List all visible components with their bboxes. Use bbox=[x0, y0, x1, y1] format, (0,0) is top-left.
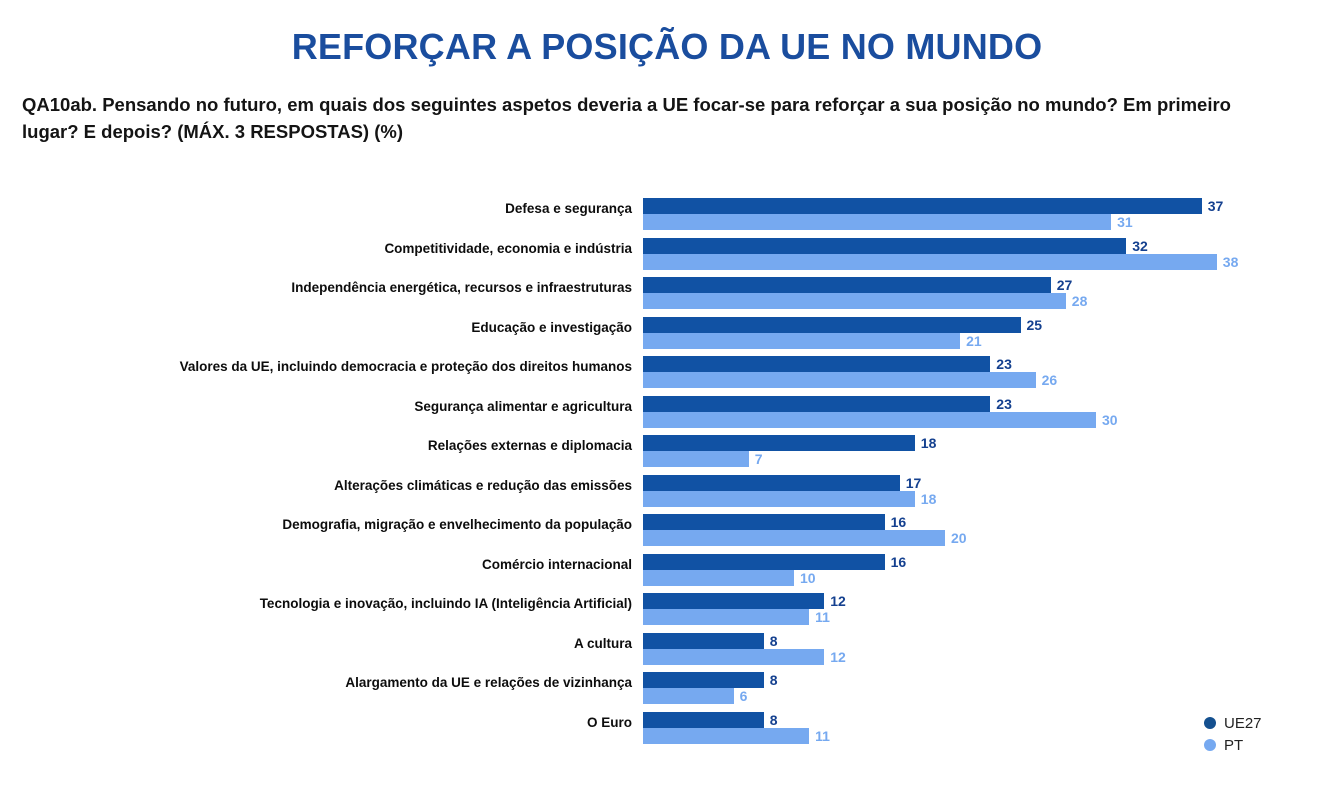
category-label: Segurança alimentar e agricultura bbox=[12, 399, 632, 414]
bar-value-label: 6 bbox=[734, 688, 748, 704]
category-label: Defesa e segurança bbox=[12, 201, 632, 216]
bar-value-label: 20 bbox=[945, 530, 967, 546]
category-label: Tecnologia e inovação, incluindo IA (Int… bbox=[12, 596, 632, 611]
bar-pt bbox=[643, 333, 960, 349]
bar-pt bbox=[643, 254, 1217, 270]
category-label: Alterações climáticas e redução das emis… bbox=[12, 478, 632, 493]
bar-ue27 bbox=[643, 593, 824, 609]
bar-value-label: 12 bbox=[824, 649, 846, 665]
chart-category-group: Independência energética, recursos e inf… bbox=[0, 277, 1334, 317]
bar-value-label: 18 bbox=[915, 435, 937, 451]
chart-category-group: Valores da UE, incluindo democracia e pr… bbox=[0, 356, 1334, 396]
bar-value-label: 23 bbox=[990, 356, 1012, 372]
chart-category-group: O Euro811 bbox=[0, 712, 1334, 752]
bar-value-label: 10 bbox=[794, 570, 816, 586]
chart-category-group: Relações externas e diplomacia187 bbox=[0, 435, 1334, 475]
bar-pt bbox=[643, 688, 734, 704]
legend-label: PT bbox=[1224, 737, 1243, 754]
bar-pt bbox=[643, 570, 794, 586]
bar-value-label: 23 bbox=[990, 396, 1012, 412]
bar-value-label: 17 bbox=[900, 475, 922, 491]
chart-category-group: Educação e investigação2521 bbox=[0, 317, 1334, 357]
bar-value-label: 11 bbox=[809, 728, 830, 744]
bar-ue27 bbox=[643, 554, 885, 570]
legend-label: UE27 bbox=[1224, 715, 1262, 732]
category-label: Educação e investigação bbox=[12, 320, 632, 335]
bar-ue27 bbox=[643, 277, 1051, 293]
bar-ue27 bbox=[643, 198, 1202, 214]
bar-ue27 bbox=[643, 514, 885, 530]
bar-value-label: 7 bbox=[749, 451, 763, 467]
category-label: Alargamento da UE e relações de vizinhan… bbox=[12, 675, 632, 690]
bar-value-label: 32 bbox=[1126, 238, 1148, 254]
category-label: Independência energética, recursos e inf… bbox=[12, 280, 632, 295]
chart-category-group: Alargamento da UE e relações de vizinhan… bbox=[0, 672, 1334, 712]
bar-value-label: 26 bbox=[1036, 372, 1058, 388]
bar-ue27 bbox=[643, 317, 1021, 333]
category-label: Demografia, migração e envelhecimento da… bbox=[12, 517, 632, 532]
bar-ue27 bbox=[643, 238, 1126, 254]
bar-value-label: 18 bbox=[915, 491, 937, 507]
bar-pt bbox=[643, 728, 809, 744]
bar-value-label: 16 bbox=[885, 514, 907, 530]
bar-value-label: 16 bbox=[885, 554, 907, 570]
category-label: Comércio internacional bbox=[12, 557, 632, 572]
bar-value-label: 8 bbox=[764, 633, 778, 649]
bar-value-label: 21 bbox=[960, 333, 982, 349]
bar-value-label: 28 bbox=[1066, 293, 1088, 309]
bar-pt bbox=[643, 451, 749, 467]
bar-value-label: 30 bbox=[1096, 412, 1118, 428]
bar-pt bbox=[643, 412, 1096, 428]
bar-value-label: 25 bbox=[1021, 317, 1043, 333]
bar-ue27 bbox=[643, 435, 915, 451]
bar-pt bbox=[643, 214, 1111, 230]
page-title: REFORÇAR A POSIÇÃO DA UE NO MUNDO bbox=[0, 26, 1334, 68]
category-label: Valores da UE, incluindo democracia e pr… bbox=[12, 359, 632, 374]
bar-value-label: 11 bbox=[809, 609, 830, 625]
bar-value-label: 37 bbox=[1202, 198, 1224, 214]
bar-value-label: 8 bbox=[764, 712, 778, 728]
bar-value-label: 12 bbox=[824, 593, 846, 609]
bar-pt bbox=[643, 609, 809, 625]
category-label: Relações externas e diplomacia bbox=[12, 438, 632, 453]
category-label: O Euro bbox=[12, 715, 632, 730]
chart-category-group: Demografia, migração e envelhecimento da… bbox=[0, 514, 1334, 554]
bar-ue27 bbox=[643, 396, 990, 412]
chart-plot-area: Defesa e segurança3731Competitividade, e… bbox=[0, 198, 1334, 751]
legend-item-pt[interactable]: PT bbox=[1204, 734, 1262, 756]
bar-value-label: 31 bbox=[1111, 214, 1133, 230]
legend-swatch-icon bbox=[1204, 717, 1216, 729]
bar-ue27 bbox=[643, 475, 900, 491]
bar-value-label: 8 bbox=[764, 672, 778, 688]
bar-pt bbox=[643, 372, 1036, 388]
chart-category-group: A cultura812 bbox=[0, 633, 1334, 673]
bar-ue27 bbox=[643, 633, 764, 649]
bar-ue27 bbox=[643, 672, 764, 688]
chart-category-group: Segurança alimentar e agricultura2330 bbox=[0, 396, 1334, 436]
chart-subtitle: QA10ab. Pensando no futuro, em quais dos… bbox=[22, 92, 1252, 146]
bar-ue27 bbox=[643, 356, 990, 372]
legend-swatch-icon bbox=[1204, 739, 1216, 751]
bar-pt bbox=[643, 649, 824, 665]
chart-category-group: Tecnologia e inovação, incluindo IA (Int… bbox=[0, 593, 1334, 633]
bar-value-label: 27 bbox=[1051, 277, 1073, 293]
bar-pt bbox=[643, 530, 945, 546]
category-label: A cultura bbox=[12, 636, 632, 651]
bar-pt bbox=[643, 293, 1066, 309]
category-label: Competitividade, economia e indústria bbox=[12, 241, 632, 256]
bar-pt bbox=[643, 491, 915, 507]
chart-category-group: Competitividade, economia e indústria323… bbox=[0, 238, 1334, 278]
bar-value-label: 38 bbox=[1217, 254, 1239, 270]
chart-category-group: Alterações climáticas e redução das emis… bbox=[0, 475, 1334, 515]
chart-category-group: Defesa e segurança3731 bbox=[0, 198, 1334, 238]
chart-legend: UE27PT bbox=[1204, 712, 1262, 756]
legend-item-ue27[interactable]: UE27 bbox=[1204, 712, 1262, 734]
chart-category-group: Comércio internacional1610 bbox=[0, 554, 1334, 594]
bar-ue27 bbox=[643, 712, 764, 728]
